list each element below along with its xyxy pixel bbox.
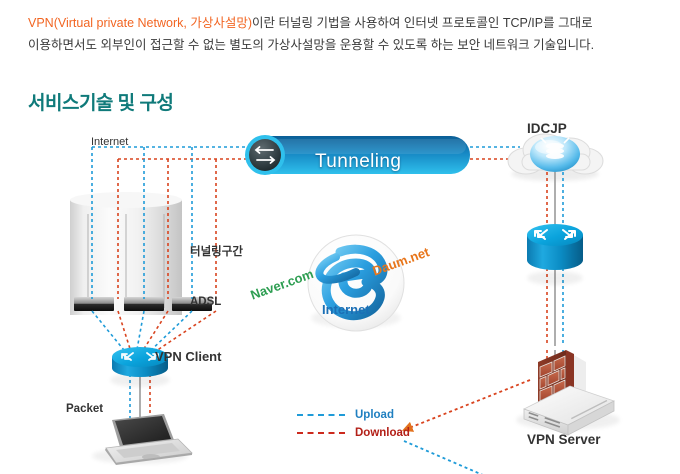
idc-router-icon <box>527 224 583 285</box>
globe-server-arrows <box>404 380 530 474</box>
legend-label-download: Download <box>355 427 410 439</box>
label-idcjp: IDCJP <box>527 121 567 136</box>
label-tunnel-zone: 터널링구간 <box>190 243 243 259</box>
label-internet: Internet <box>91 136 128 148</box>
page-root: VPN(Virtual private Network, 가상사설망)이란 터널… <box>0 0 680 474</box>
label-tunneling: Tunneling <box>315 151 401 173</box>
label-adsl: ADSL <box>190 296 221 308</box>
download-dash-icon <box>297 432 345 434</box>
legend-item-upload: Upload <box>297 406 410 424</box>
vpn-server-icon <box>516 386 620 435</box>
legend-item-download: Download <box>297 424 410 442</box>
label-vpn-server: VPN Server <box>527 432 601 447</box>
intro-line2: 이용하면서도 외부인이 접근할 수 없는 별도의 가상사설망을 운용할 수 있도… <box>28 38 594 52</box>
label-packet: Packet <box>66 403 103 415</box>
network-diagram: Internet 터널링구간 ADSL VPN Client Packet ID… <box>0 118 680 474</box>
intro-line1-rest: 이란 터널링 기법을 사용하여 인터넷 프로토콜인 TCP/IP를 그대로 <box>252 16 593 30</box>
intro-highlight-text: VPN(Virtual private Network, 가상사설망) <box>28 16 252 30</box>
tunnel-zone-graphic <box>70 192 182 315</box>
intro-paragraph: VPN(Virtual private Network, 가상사설망)이란 터널… <box>28 12 628 56</box>
upload-dash-icon <box>297 414 345 416</box>
label-internet-globe: Internet <box>322 302 370 317</box>
laptop-icon <box>92 414 192 465</box>
section-title: 서비스기술 및 구성 <box>28 88 173 115</box>
legend-label-upload: Upload <box>355 409 394 421</box>
legend: Upload Download <box>297 406 410 442</box>
label-vpn-client: VPN Client <box>155 349 221 364</box>
